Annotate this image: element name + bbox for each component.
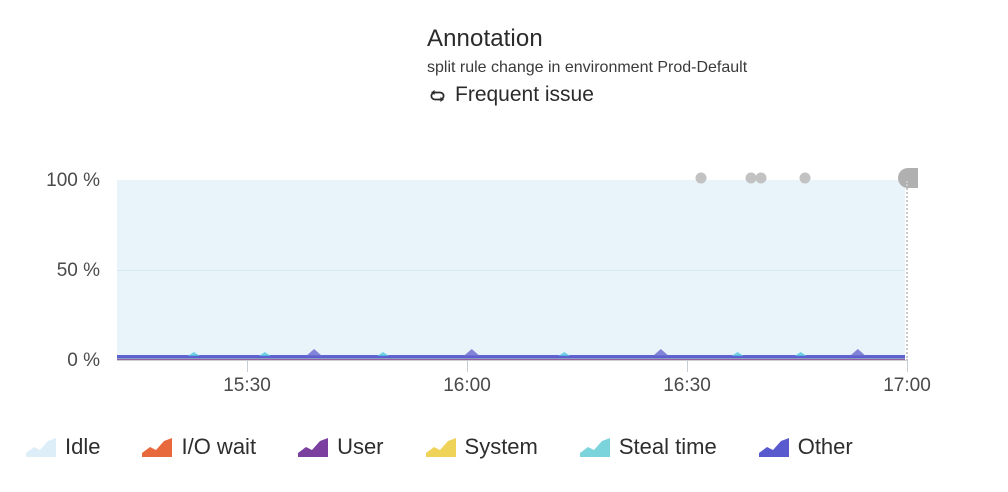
annotation-status-label: Frequent issue xyxy=(455,81,594,108)
legend-label: Steal time xyxy=(619,435,717,459)
area-chart-icon xyxy=(298,437,328,457)
x-tick-label-1530: 15:30 xyxy=(223,375,271,397)
legend-item-idle[interactable]: Idle xyxy=(26,435,100,459)
area-chart-icon xyxy=(580,437,610,457)
x-tick-mark xyxy=(907,361,908,372)
y-tick-label-50: 50 % xyxy=(0,261,100,280)
y-axis: 100 % 50 % 0 % xyxy=(0,155,100,365)
gridline-50 xyxy=(117,270,905,271)
legend-item-io-wait[interactable]: I/O wait xyxy=(142,435,256,459)
legend-item-other[interactable]: Other xyxy=(759,435,853,459)
legend-label: I/O wait xyxy=(181,435,256,459)
area-chart-icon xyxy=(759,437,789,457)
cpu-usage-chart: 100 % 50 % 0 % 15:30 16:00 16:30 17:00 xyxy=(0,155,1008,405)
series-spike xyxy=(653,349,669,356)
x-tick-mark xyxy=(467,361,468,372)
selected-event-line xyxy=(906,181,908,361)
y-tick-label-100: 100 % xyxy=(0,171,100,190)
series-spike xyxy=(558,352,570,356)
repeat-icon xyxy=(427,85,448,106)
annotation-header: Annotation split rule change in environm… xyxy=(427,24,967,108)
event-dot[interactable] xyxy=(800,173,811,184)
series-spike xyxy=(377,352,389,356)
event-dot[interactable] xyxy=(756,173,767,184)
area-chart-icon xyxy=(26,437,56,457)
legend-item-system[interactable]: System xyxy=(426,435,538,459)
plot-area[interactable] xyxy=(117,180,905,360)
x-tick-mark xyxy=(687,361,688,372)
legend-label: Other xyxy=(798,435,853,459)
legend-label: Idle xyxy=(65,435,100,459)
selected-event-marker[interactable] xyxy=(898,168,918,188)
x-tick-label-1630: 16:30 xyxy=(663,375,711,397)
legend-item-steal-time[interactable]: Steal time xyxy=(580,435,717,459)
series-spike xyxy=(732,352,744,356)
area-chart-icon xyxy=(426,437,456,457)
series-spike xyxy=(306,349,322,356)
area-chart-icon xyxy=(142,437,172,457)
series-spike xyxy=(259,352,271,356)
x-tick-label-1700: 17:00 xyxy=(883,375,931,397)
legend-label: User xyxy=(337,435,383,459)
legend-item-user[interactable]: User xyxy=(298,435,383,459)
x-tick-mark xyxy=(247,361,248,372)
series-spike xyxy=(850,349,866,356)
annotation-subtitle: split rule change in environment Prod-De… xyxy=(427,57,967,79)
series-spike xyxy=(464,349,480,356)
series-band-other xyxy=(117,355,905,358)
series-spike xyxy=(795,352,807,356)
y-tick-label-0: 0 % xyxy=(0,351,100,370)
legend-label: System xyxy=(465,435,538,459)
annotation-status: Frequent issue xyxy=(427,81,967,108)
x-tick-label-1600: 16:00 xyxy=(443,375,491,397)
event-dot[interactable] xyxy=(696,173,707,184)
annotation-title: Annotation xyxy=(427,24,967,54)
chart-legend: Idle I/O wait User System xyxy=(0,424,1008,470)
x-axis-line xyxy=(117,360,907,361)
series-spike xyxy=(188,352,200,356)
